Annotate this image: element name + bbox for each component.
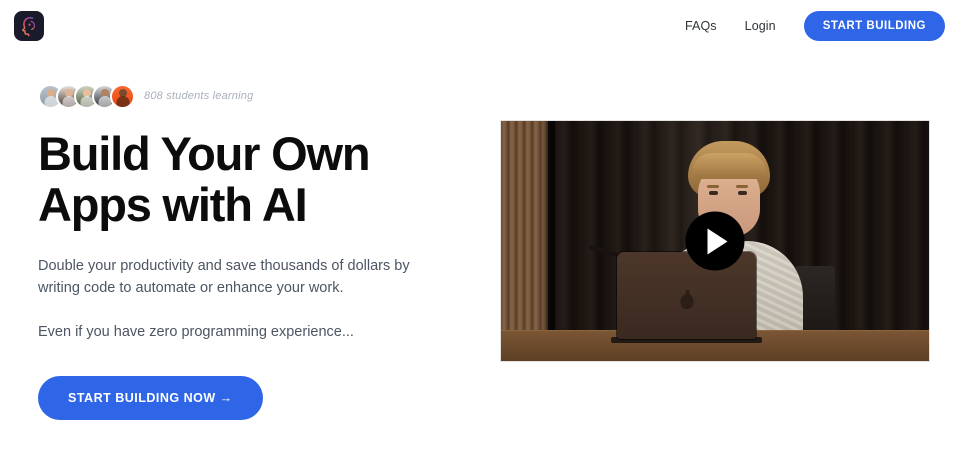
hero-section: 808 students learning Build Your Own App… [0, 52, 955, 465]
headline-line-2: Apps with AI [38, 178, 306, 231]
social-proof: 808 students learning [38, 80, 468, 112]
brand-logo[interactable] [14, 11, 44, 41]
headline-line-1: Build Your Own [38, 127, 369, 180]
eye-right [738, 191, 747, 195]
landing-page: FAQs Login START BUILDING [0, 0, 955, 465]
eye-left [709, 191, 718, 195]
avatar-group [38, 84, 135, 109]
header-start-building-button[interactable]: START BUILDING [804, 11, 945, 41]
hero-video-player[interactable] [500, 120, 930, 362]
site-header: FAQs Login START BUILDING [0, 0, 955, 52]
macbook-laptop [617, 252, 756, 339]
hero-paragraph-2: Even if you have zero programming experi… [38, 322, 438, 344]
hero-content: 808 students learning Build Your Own App… [38, 80, 468, 420]
main-nav: FAQs Login START BUILDING [671, 11, 950, 41]
apple-logo-icon [680, 294, 693, 309]
nav-link-faqs[interactable]: FAQs [671, 13, 731, 39]
play-triangle-icon [708, 228, 728, 254]
hair-front [692, 153, 766, 179]
students-learning-label: 808 students learning [144, 90, 253, 102]
nav-link-login[interactable]: Login [731, 13, 790, 39]
eyebrow-right [736, 185, 748, 188]
hero-paragraph-1: Double your productivity and save thousa… [38, 256, 438, 300]
wood-wall-shadow [541, 121, 555, 361]
avatar [110, 84, 135, 109]
eyebrow-left [707, 185, 719, 188]
page-title: Build Your Own Apps with AI [38, 128, 468, 230]
play-button[interactable] [686, 212, 745, 271]
hero-start-building-now-button[interactable]: START BUILDING NOW → [38, 376, 263, 420]
hero-description: Double your productivity and save thousa… [38, 256, 468, 343]
brand-logo-head-icon [18, 15, 40, 37]
